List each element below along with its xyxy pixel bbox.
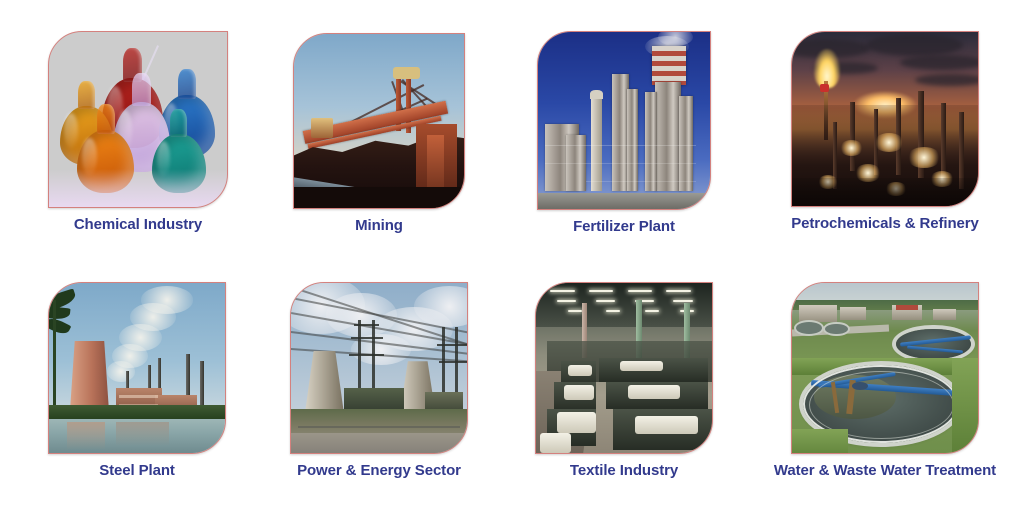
textile-industry-image: [536, 283, 712, 453]
sector-label-chemical-industry: Chemical Industry: [74, 217, 202, 234]
sector-label-petrochemicals-refinery: Petrochemicals & Refinery: [791, 216, 979, 233]
fertilizer-plant-image: [538, 32, 710, 209]
sector-thumbnail-power-energy-sector[interactable]: [290, 282, 468, 454]
sector-label-mining: Mining: [355, 218, 403, 235]
sector-label-steel-plant: Steel Plant: [99, 463, 175, 480]
industry-sectors-grid: Chemical Industry: [0, 0, 1029, 515]
water-waste-water-treatment-image: [792, 283, 978, 453]
sector-card-mining[interactable]: Mining: [293, 33, 465, 235]
sector-label-textile-industry: Textile Industry: [570, 463, 678, 480]
sector-thumbnail-petrochemicals-refinery[interactable]: [791, 31, 979, 207]
sector-card-water-waste-water-treatment[interactable]: Water & Waste Water Treatment: [791, 282, 979, 480]
petrochemicals-refinery-image: [792, 32, 978, 206]
chemical-industry-image: [49, 32, 227, 207]
mining-image: [294, 34, 464, 208]
power-energy-sector-image: [291, 283, 467, 453]
sector-card-petrochemicals-refinery[interactable]: Petrochemicals & Refinery: [791, 31, 979, 233]
sector-card-textile-industry[interactable]: Textile Industry: [535, 282, 713, 480]
sector-thumbnail-water-waste-water-treatment[interactable]: [791, 282, 979, 454]
sector-thumbnail-textile-industry[interactable]: [535, 282, 713, 454]
sector-thumbnail-mining[interactable]: [293, 33, 465, 209]
sector-thumbnail-chemical-industry[interactable]: [48, 31, 228, 208]
sector-label-water-waste-water-treatment: Water & Waste Water Treatment: [774, 463, 996, 480]
sector-thumbnail-steel-plant[interactable]: [48, 282, 226, 454]
sector-thumbnail-fertilizer-plant[interactable]: [537, 31, 711, 210]
sector-card-chemical-industry[interactable]: Chemical Industry: [48, 31, 228, 234]
sector-label-fertilizer-plant: Fertilizer Plant: [573, 219, 675, 236]
sector-card-steel-plant[interactable]: Steel Plant: [48, 282, 226, 480]
sector-card-power-energy-sector[interactable]: Power & Energy Sector: [290, 282, 468, 480]
steel-plant-image: [49, 283, 225, 453]
sector-card-fertilizer-plant[interactable]: Fertilizer Plant: [537, 31, 711, 236]
sector-label-power-energy-sector: Power & Energy Sector: [297, 463, 461, 480]
